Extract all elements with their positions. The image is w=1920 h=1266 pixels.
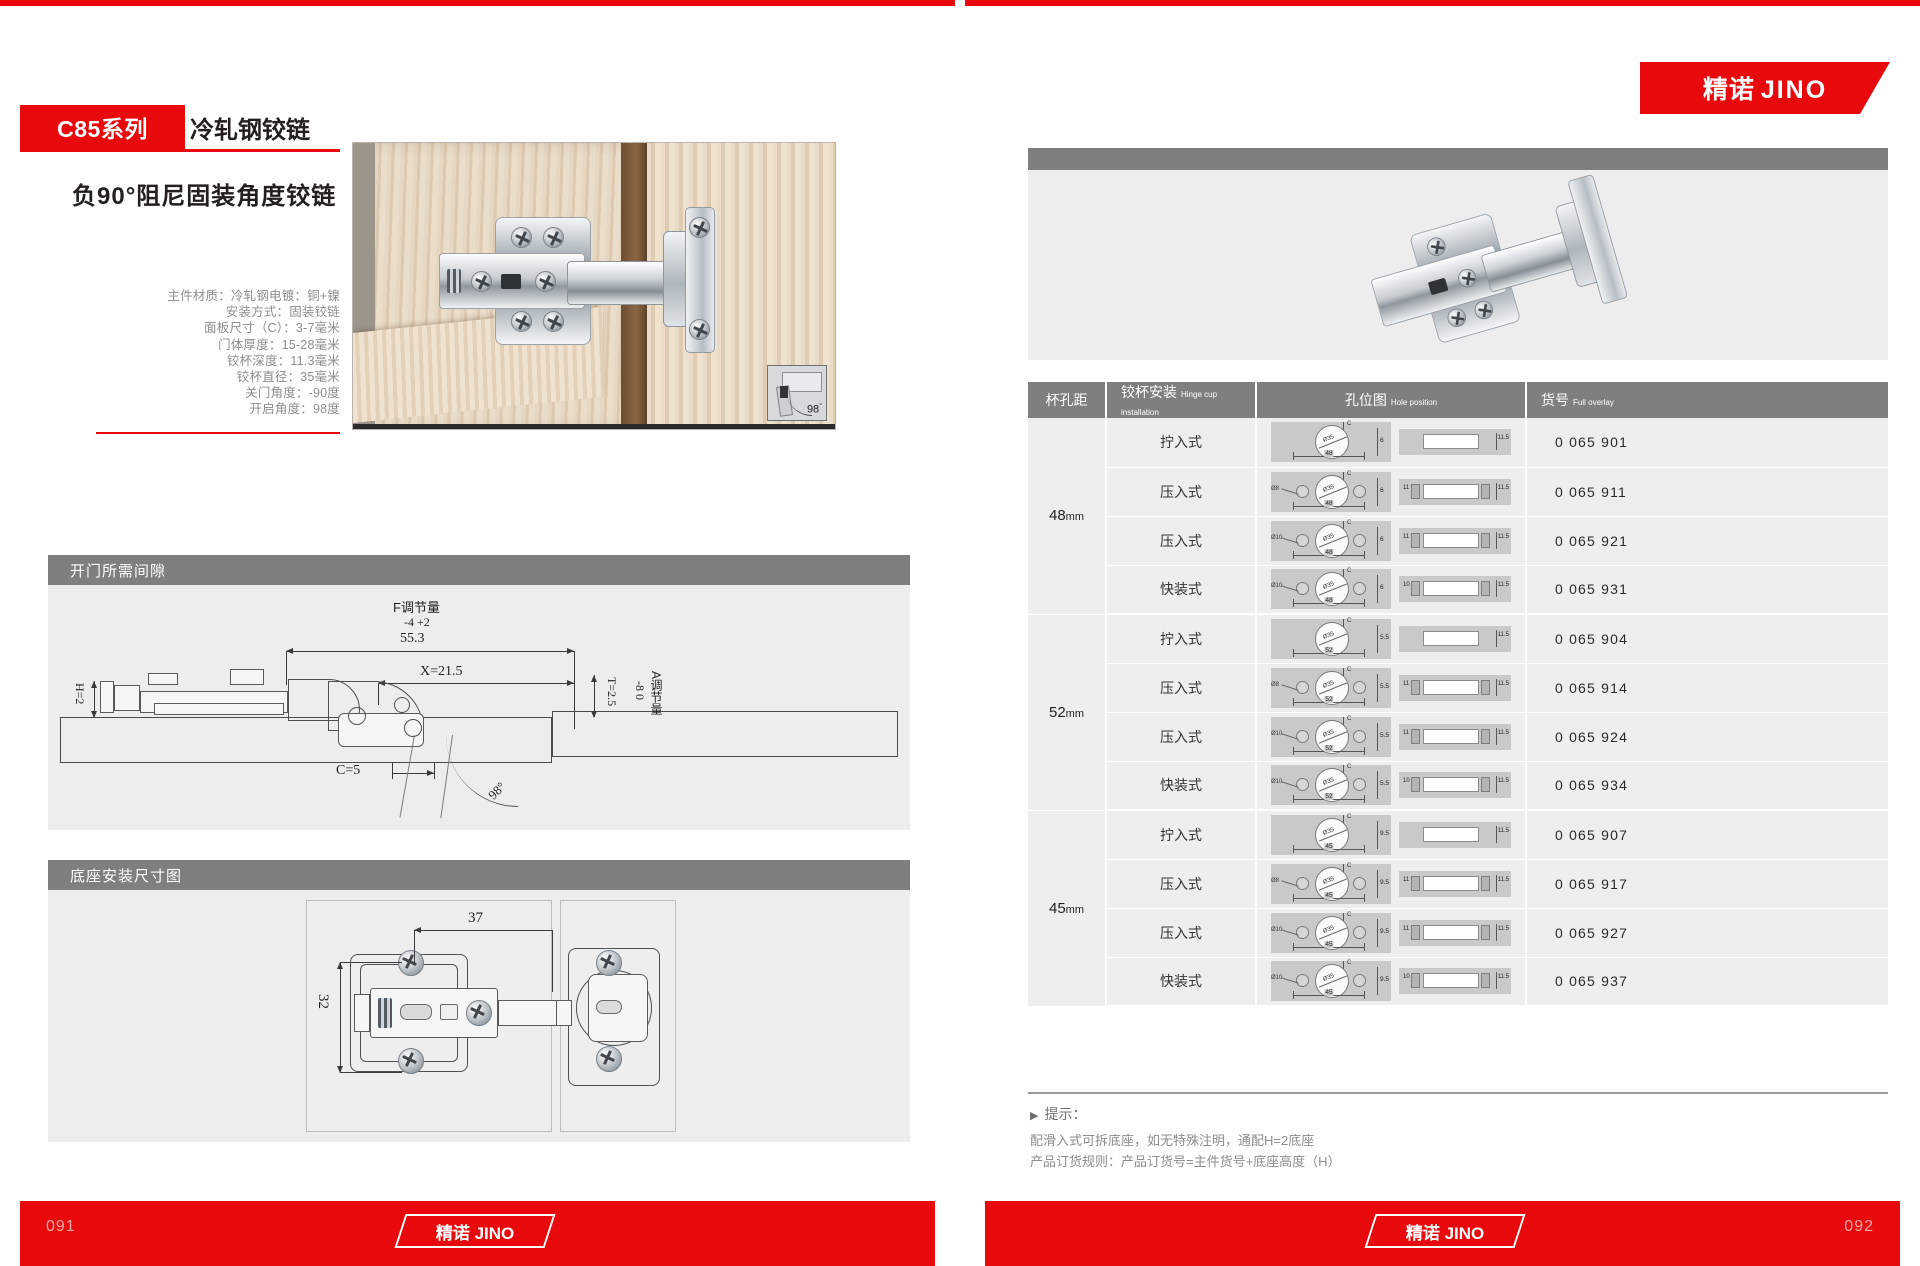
cell-install-type: 压入式 xyxy=(1106,663,1256,712)
depth-left-label: 11 xyxy=(1403,681,1409,687)
cell-hole-diagram: CØ8Ø354861111.5 xyxy=(1256,467,1526,516)
side-hole xyxy=(1296,778,1309,791)
ext-line xyxy=(414,930,415,964)
center-mark-label: C xyxy=(1347,764,1351,770)
screw-icon xyxy=(398,1048,424,1074)
cell-install-type: 拧入式 xyxy=(1106,810,1256,859)
pitch-dim-value: 52 xyxy=(1324,793,1333,800)
side-hole xyxy=(1353,582,1366,595)
depth-left-label: 10 xyxy=(1403,778,1410,784)
section-body-clearance: F调节量 -4 +2 55.3 X=21.5 xyxy=(48,585,910,830)
side-hole-label: Ø8 xyxy=(1271,878,1279,884)
brand-logo-banner: 精诺JINO xyxy=(1640,62,1890,114)
side-hole xyxy=(1296,877,1309,890)
cup-cavity xyxy=(1423,484,1479,499)
pitch-dimension: 45 xyxy=(1293,894,1365,902)
hole-position-diagram: CØ35459.511.5 xyxy=(1266,815,1516,855)
offset-value: 6 xyxy=(1380,584,1384,591)
tips-heading: ▶提示： xyxy=(1030,1104,1730,1127)
press-pin xyxy=(1411,484,1420,499)
adjust-block-profile xyxy=(114,685,140,711)
footer-logo-left: 精诺 JINO xyxy=(394,1214,555,1248)
cell-part-number: 0 065 921 xyxy=(1526,516,1888,565)
th-cup-install: 铰杯安装Hinge cup installation xyxy=(1106,382,1256,418)
cell-install-type: 拧入式 xyxy=(1106,614,1256,663)
hole-side-view: 11.5 xyxy=(1399,429,1511,455)
offset-value: 5.5 xyxy=(1380,634,1389,641)
offset-dimension: 9.5 xyxy=(1371,919,1385,947)
depth-left-label: 11 xyxy=(1403,877,1409,883)
side-hole xyxy=(1296,485,1309,498)
hole-position-diagram: CØ8Ø35459.51111.5 xyxy=(1266,864,1516,904)
hole-top-view: CØ10Ø35486 xyxy=(1271,569,1391,609)
press-pin xyxy=(1481,729,1490,744)
pitch-dimension: 52 xyxy=(1293,649,1365,657)
depth-label: 11.5 xyxy=(1498,681,1509,687)
table-row[interactable]: 压入式CØ8Ø35459.51111.50 065 917 xyxy=(1028,859,1888,908)
pitch-dimension: 48 xyxy=(1293,599,1365,607)
depth-label: 11.5 xyxy=(1498,534,1509,540)
cell-part-number: 0 065 911 xyxy=(1526,467,1888,516)
table-row[interactable]: 压入式CØ10Ø35459.51111.50 065 927 xyxy=(1028,908,1888,957)
plate-neck xyxy=(498,1000,560,1026)
dim-line-total xyxy=(286,651,574,652)
hole-top-view: CØ10Ø35459.5 xyxy=(1271,913,1391,953)
ext-line xyxy=(552,930,553,992)
depth-label: 11.5 xyxy=(1498,974,1509,980)
pitch-dimension: 45 xyxy=(1293,943,1365,951)
plate-tab xyxy=(354,994,370,1032)
depth-label: 11.5 xyxy=(1498,632,1509,638)
product-photo-installed: 98° xyxy=(352,142,836,430)
cell-hole-diagram: CØ8Ø35459.51111.5 xyxy=(1256,859,1526,908)
center-mark-label: C xyxy=(1347,520,1351,526)
pitch-dimension: 45 xyxy=(1293,991,1365,999)
screw-icon xyxy=(511,227,532,248)
offset-value: 9.5 xyxy=(1380,830,1389,837)
hinge-illustration xyxy=(439,201,719,381)
dim-line-32 xyxy=(340,962,341,1072)
screw-icon xyxy=(543,311,564,332)
ext-line xyxy=(392,763,393,779)
hole-position-diagram: CØ10Ø354861011.5 xyxy=(1266,569,1516,609)
offset-value: 5.5 xyxy=(1380,732,1389,739)
dim-arrow xyxy=(567,680,574,686)
hole-position-diagram: CØ10Ø354861111.5 xyxy=(1266,521,1516,561)
section-header-clearance: 开门所需间隙 xyxy=(48,555,910,585)
side-hole xyxy=(1296,974,1309,987)
pivot-pin xyxy=(394,697,410,713)
page-number-left: 091 xyxy=(46,1218,76,1236)
screw-icon xyxy=(511,311,532,332)
press-pin xyxy=(1411,876,1420,891)
offset-value: 6 xyxy=(1380,487,1384,494)
hole-side-view: 1111.5 xyxy=(1399,528,1511,554)
side-hole xyxy=(1296,681,1309,694)
press-pin xyxy=(1481,581,1490,596)
offset-value: 9.5 xyxy=(1380,928,1389,935)
table-row[interactable]: 45mm拧入式CØ35459.511.50 065 907 xyxy=(1028,810,1888,859)
press-pin xyxy=(1481,973,1490,988)
center-mark-label: C xyxy=(1347,960,1351,966)
cell-part-number: 0 065 914 xyxy=(1526,663,1888,712)
cell-part-number: 0 065 924 xyxy=(1526,712,1888,761)
dim-37-value: 37 xyxy=(468,910,483,927)
spec-item: 安装方式：固装铰链 xyxy=(60,304,340,320)
product-photo-detail xyxy=(1028,170,1888,360)
hole-top-view: CØ35525.5 xyxy=(1271,619,1391,659)
depth-label: 11.5 xyxy=(1498,435,1509,441)
opening-angle-inset: 98° xyxy=(767,365,827,421)
spec-item: 门体厚度：15-28毫米 xyxy=(60,337,340,353)
section-header-base: 底座安装尺寸图 xyxy=(48,860,910,890)
offset-dimension: 9.5 xyxy=(1371,821,1385,849)
table-row[interactable]: 48mm拧入式CØ3548611.50 065 901 xyxy=(1028,418,1888,467)
offset-dimension: 5.5 xyxy=(1371,625,1385,653)
cup-cavity xyxy=(1423,680,1479,695)
press-pin xyxy=(1481,484,1490,499)
offset-dimension: 5.5 xyxy=(1371,674,1385,702)
press-pin xyxy=(1481,533,1490,548)
section-body-base: 37 32 xyxy=(48,890,910,1142)
offset-value: 9.5 xyxy=(1380,879,1389,886)
hole-top-view: CØ10Ø35525.5 xyxy=(1271,765,1391,805)
footer-logo-left-text: 精诺 JINO xyxy=(436,1219,514,1244)
pitch-dim-value: 45 xyxy=(1324,989,1333,996)
ext-line xyxy=(340,1072,402,1073)
side-hole-label: Ø10 xyxy=(1271,535,1282,541)
side-hole xyxy=(1353,778,1366,791)
pitch-dim-value: 45 xyxy=(1324,941,1333,948)
press-pin xyxy=(1481,777,1490,792)
depth-label: 11.5 xyxy=(1498,778,1509,784)
depth-label: 11.5 xyxy=(1498,582,1509,588)
screw-icon xyxy=(543,227,564,248)
cell-install-type: 压入式 xyxy=(1106,516,1256,565)
side-hole xyxy=(1296,582,1309,595)
depth-label: 11.5 xyxy=(1498,730,1509,736)
center-mark-label: C xyxy=(1347,618,1351,624)
side-hole xyxy=(1353,730,1366,743)
tips-block: ▶提示： 配滑入式可拆底座，如无特殊注明，通配H=2底座 产品订货规则：产品订货… xyxy=(1030,1104,1730,1172)
cup-slot xyxy=(596,1000,622,1014)
cell-hole-diagram: CØ10Ø35525.51011.5 xyxy=(1256,761,1526,810)
side-hole xyxy=(1353,485,1366,498)
cup-link xyxy=(556,1000,572,1026)
center-mark-label: C xyxy=(1347,667,1351,673)
series-name: 冷轧钢铰链 xyxy=(190,105,310,149)
hole-top-view: CØ35486 xyxy=(1271,422,1391,462)
press-pin xyxy=(1411,777,1420,792)
pitch-dimension: 52 xyxy=(1293,795,1365,803)
square-hole xyxy=(501,274,521,289)
catalog-spread: C85系列 冷轧钢铰链 负90°阻尼固装角度铰链 主件材质：冷轧钢电镀：铜+镍 … xyxy=(0,0,1920,1266)
hole-side-view: 1011.5 xyxy=(1399,772,1511,798)
offset-dimension: 6 xyxy=(1371,575,1385,603)
table-header-row: 杯孔距 铰杯安装Hinge cup installation 孔位图Hole p… xyxy=(1028,382,1888,418)
cell-cup-pitch: 48mm xyxy=(1028,418,1106,614)
side-hole xyxy=(1296,926,1309,939)
hole-top-view: CØ10Ø35459.5 xyxy=(1271,961,1391,1001)
table-row[interactable]: 压入式CØ8Ø354861111.50 065 911 xyxy=(1028,467,1888,516)
cell-part-number: 0 065 931 xyxy=(1526,565,1888,614)
cell-part-number: 0 065 927 xyxy=(1526,908,1888,957)
depth-left-label: 11 xyxy=(1403,534,1409,540)
offset-dimension: 9.5 xyxy=(1371,870,1385,898)
hole-position-diagram: CØ10Ø35525.51111.5 xyxy=(1266,717,1516,757)
center-mark-label: C xyxy=(1347,716,1351,722)
pitch-dim-value: 52 xyxy=(1324,696,1333,703)
offset-value: 5.5 xyxy=(1380,683,1389,690)
dim-total-value: 55.3 xyxy=(400,631,425,647)
table-row[interactable]: 压入式CØ8Ø35525.51111.50 065 914 xyxy=(1028,663,1888,712)
th-hole-position: 孔位图Hole position xyxy=(1256,382,1526,418)
side-hole-label: Ø10 xyxy=(1271,731,1282,737)
pitch-dim-value: 48 xyxy=(1324,450,1333,457)
footer-logo-right: 精诺 JINO xyxy=(1364,1214,1525,1248)
offset-value: 5.5 xyxy=(1380,780,1389,787)
center-mark-label: C xyxy=(1347,568,1351,574)
press-pin xyxy=(1411,581,1420,596)
footer-logo-right-text: 精诺 JINO xyxy=(1406,1219,1484,1244)
press-pin xyxy=(1481,925,1490,940)
screw-icon xyxy=(535,271,556,292)
center-mark-label: C xyxy=(1347,863,1351,869)
cup-cavity xyxy=(1423,434,1479,449)
depth-left-label: 11 xyxy=(1403,730,1409,736)
dim-t-value: T=2.5 xyxy=(604,677,619,706)
dim-arrow xyxy=(286,648,293,654)
depth-left-label: 10 xyxy=(1403,582,1410,588)
specification-list: 主件材质：冷轧钢电镀：铜+镍 安装方式：固装铰链 面板尺寸（C）：3-7毫米 门… xyxy=(60,288,340,418)
hole-top-view: CØ35459.5 xyxy=(1271,815,1391,855)
hole-position-diagram: CØ3548611.5 xyxy=(1266,422,1516,462)
side-hole xyxy=(1353,877,1366,890)
pitch-dimension: 48 xyxy=(1293,502,1365,510)
dim-arrow xyxy=(427,770,434,776)
dim-arrow xyxy=(414,927,421,933)
title-underline xyxy=(20,149,340,152)
dim-arrow xyxy=(337,962,343,969)
cup-cavity xyxy=(1423,827,1479,842)
side-hole xyxy=(1353,681,1366,694)
cell-hole-diagram: CØ10Ø35459.51011.5 xyxy=(1256,957,1526,1006)
pitch-dim-value: 48 xyxy=(1324,500,1333,507)
side-hole-label: Ø8 xyxy=(1271,486,1279,492)
table-row[interactable]: 快装式CØ10Ø35525.51011.50 065 934 xyxy=(1028,761,1888,810)
cell-hole-diagram: CØ10Ø354861011.5 xyxy=(1256,565,1526,614)
tips-line: 产品订货规则：产品订货号=主件货号+底座高度（H） xyxy=(1030,1151,1730,1172)
screw-icon xyxy=(689,319,710,340)
ext-line xyxy=(340,962,402,963)
a-adjust-range: -8 0 xyxy=(632,681,647,700)
pitch-dim-value: 52 xyxy=(1324,745,1333,752)
hole-top-view: CØ8Ø35486 xyxy=(1271,472,1391,512)
dim-h-value: H=2 xyxy=(72,683,87,704)
damper-body xyxy=(154,703,284,715)
cell-hole-diagram: CØ3548611.5 xyxy=(1256,418,1526,467)
dim-32-value: 32 xyxy=(314,994,331,1009)
table-row[interactable]: 压入式CØ10Ø354861111.50 065 921 xyxy=(1028,516,1888,565)
offset-dimension: 5.5 xyxy=(1371,771,1385,799)
hole-position-diagram: CØ10Ø35459.51011.5 xyxy=(1266,961,1516,1001)
table-body: 48mm拧入式CØ3548611.50 065 901压入式CØ8Ø354861… xyxy=(1028,418,1888,1006)
depth-label: 11.5 xyxy=(1498,926,1509,932)
product-variants-table: 杯孔距 铰杯安装Hinge cup installation 孔位图Hole p… xyxy=(1028,382,1888,1007)
side-hole-label: Ø10 xyxy=(1271,583,1282,589)
hole-side-view: 1011.5 xyxy=(1399,968,1511,994)
triangle-icon: ▶ xyxy=(1030,1110,1038,1122)
depth-left-label: 10 xyxy=(1403,974,1410,980)
cell-part-number: 0 065 901 xyxy=(1526,418,1888,467)
tips-divider xyxy=(1028,1092,1888,1094)
inset-angle-label: 98° xyxy=(807,403,822,416)
pitch-dimension: 48 xyxy=(1293,551,1365,559)
hinge-vent-slots xyxy=(447,269,461,293)
page-number-right: 092 xyxy=(1844,1218,1874,1236)
hole-top-view: CØ8Ø35525.5 xyxy=(1271,668,1391,708)
offset-dimension: 6 xyxy=(1371,478,1385,506)
hole-position-diagram: CØ35525.511.5 xyxy=(1266,619,1516,659)
dim-arrow xyxy=(91,711,97,718)
hole-side-view: 11.5 xyxy=(1399,626,1511,652)
side-hole xyxy=(1296,730,1309,743)
th-part-number: 货号Full overlay xyxy=(1526,382,1888,418)
screw-icon xyxy=(398,950,424,976)
left-page: C85系列 冷轧钢铰链 负90°阻尼固装角度铰链 主件材质：冷轧钢电镀：铜+镍 … xyxy=(0,0,960,1266)
cup-cavity xyxy=(1423,876,1479,891)
plate-vent-slots xyxy=(378,998,392,1028)
cell-part-number: 0 065 907 xyxy=(1526,810,1888,859)
side-hole xyxy=(1353,974,1366,987)
ext-line xyxy=(286,651,287,685)
spec-item: 铰杯深度：11.3毫米 xyxy=(60,353,340,369)
table-row[interactable]: 52mm拧入式CØ35525.511.50 065 904 xyxy=(1028,614,1888,663)
cell-hole-diagram: CØ10Ø35459.51111.5 xyxy=(1256,908,1526,957)
pitch-dim-value: 45 xyxy=(1324,843,1333,850)
cell-hole-diagram: CØ10Ø354861111.5 xyxy=(1256,516,1526,565)
dim-arrow xyxy=(91,681,97,688)
screw-icon xyxy=(471,271,492,292)
depth-left-label: 11 xyxy=(1403,926,1409,932)
cup-cavity xyxy=(1423,925,1479,940)
screw-icon xyxy=(466,1000,492,1026)
photo-base-line xyxy=(353,424,835,429)
cell-part-number: 0 065 937 xyxy=(1526,957,1888,1006)
table-row[interactable]: 压入式CØ10Ø35525.51111.50 065 924 xyxy=(1028,712,1888,761)
side-hole xyxy=(1353,926,1366,939)
cell-install-type: 压入式 xyxy=(1106,908,1256,957)
hole-side-view: 1111.5 xyxy=(1399,724,1511,750)
dim-line-x xyxy=(378,683,574,684)
cell-cup-pitch: 52mm xyxy=(1028,614,1106,810)
depth-label: 11.5 xyxy=(1498,877,1509,883)
cell-hole-diagram: CØ10Ø35525.51111.5 xyxy=(1256,712,1526,761)
f-adjust-label: F调节量 xyxy=(393,597,440,616)
side-hole-label: Ø10 xyxy=(1271,927,1282,933)
product-title: 负90°阻尼固装角度铰链 xyxy=(72,176,352,211)
hole-position-diagram: CØ8Ø354861111.5 xyxy=(1266,472,1516,512)
pitch-dimension: 45 xyxy=(1293,845,1365,853)
table-row[interactable]: 快装式CØ10Ø354861011.50 065 931 xyxy=(1028,565,1888,614)
press-pin xyxy=(1411,925,1420,940)
offset-dimension: 5.5 xyxy=(1371,723,1385,751)
cup-cavity xyxy=(1423,533,1479,548)
hole-position-diagram: CØ10Ø35459.51111.5 xyxy=(1266,913,1516,953)
cup-cavity xyxy=(1423,973,1479,988)
pitch-dim-value: 45 xyxy=(1324,892,1333,899)
pitch-dimension: 52 xyxy=(1293,698,1365,706)
center-mark-label: C xyxy=(1347,814,1351,820)
screw-icon xyxy=(596,950,622,976)
cam-screw-head xyxy=(230,669,264,685)
cell-install-type: 压入式 xyxy=(1106,467,1256,516)
cell-install-type: 快装式 xyxy=(1106,761,1256,810)
offset-value: 6 xyxy=(1380,536,1384,543)
hole-side-view: 1011.5 xyxy=(1399,576,1511,602)
cell-part-number: 0 065 917 xyxy=(1526,859,1888,908)
mount-plate-profile xyxy=(100,681,114,713)
hole-top-view: CØ10Ø35486 xyxy=(1271,521,1391,561)
cup-cavity xyxy=(1423,581,1479,596)
series-code-tab: C85系列 xyxy=(20,105,185,149)
cell-part-number: 0 065 904 xyxy=(1526,614,1888,663)
pitch-dim-value: 52 xyxy=(1324,647,1333,654)
center-mark-label: C xyxy=(1347,421,1351,427)
square-window xyxy=(440,1004,458,1020)
center-mark-label: C xyxy=(1347,471,1351,477)
side-hole-label: Ø10 xyxy=(1271,779,1282,785)
cell-install-type: 快装式 xyxy=(1106,565,1256,614)
hole-position-diagram: CØ8Ø35525.51111.5 xyxy=(1266,668,1516,708)
table-row[interactable]: 快装式CØ10Ø35459.51011.50 065 937 xyxy=(1028,957,1888,1006)
cell-install-type: 拧入式 xyxy=(1106,418,1256,467)
offset-value: 9.5 xyxy=(1380,976,1389,983)
dim-x-value: X=21.5 xyxy=(420,664,463,680)
cell-hole-diagram: CØ35459.511.5 xyxy=(1256,810,1526,859)
center-mark-label: C xyxy=(1347,912,1351,918)
press-pin xyxy=(1481,680,1490,695)
hole-side-view: 1111.5 xyxy=(1399,871,1511,897)
ext-line xyxy=(434,763,435,779)
hole-side-view: 1111.5 xyxy=(1399,920,1511,946)
cell-install-type: 压入式 xyxy=(1106,712,1256,761)
pivot-pin xyxy=(348,707,366,725)
adjust-slot xyxy=(400,1004,432,1020)
tips-line: 配滑入式可拆底座，如无特殊注明，通配H=2底座 xyxy=(1030,1130,1730,1151)
offset-value: 6 xyxy=(1380,437,1384,444)
spec-item: 铰杯直径：35毫米 xyxy=(60,369,340,385)
cell-cup-pitch: 45mm xyxy=(1028,810,1106,1006)
press-pin xyxy=(1411,680,1420,695)
pitch-dim-value: 48 xyxy=(1324,597,1333,604)
spec-item: 面板尺寸（C）：3-7毫米 xyxy=(60,320,340,336)
spec-item: 关门角度：-90度 xyxy=(60,385,340,401)
pitch-dim-value: 48 xyxy=(1324,549,1333,556)
hinge-illustration-detail xyxy=(1358,170,1639,360)
side-hole-label: Ø8 xyxy=(1271,682,1279,688)
offset-dimension: 6 xyxy=(1371,428,1385,456)
photo-panel-header xyxy=(1028,148,1888,170)
side-hole xyxy=(1353,534,1366,547)
angle-arc xyxy=(446,735,518,807)
dim-arrow xyxy=(591,711,597,718)
screw-icon xyxy=(689,217,710,238)
side-hole-label: Ø10 xyxy=(1271,975,1282,981)
a-adjust-label: A调节量 xyxy=(648,671,665,715)
cell-hole-diagram: CØ35525.511.5 xyxy=(1256,614,1526,663)
hole-position-diagram: CØ10Ø35525.51011.5 xyxy=(1266,765,1516,805)
